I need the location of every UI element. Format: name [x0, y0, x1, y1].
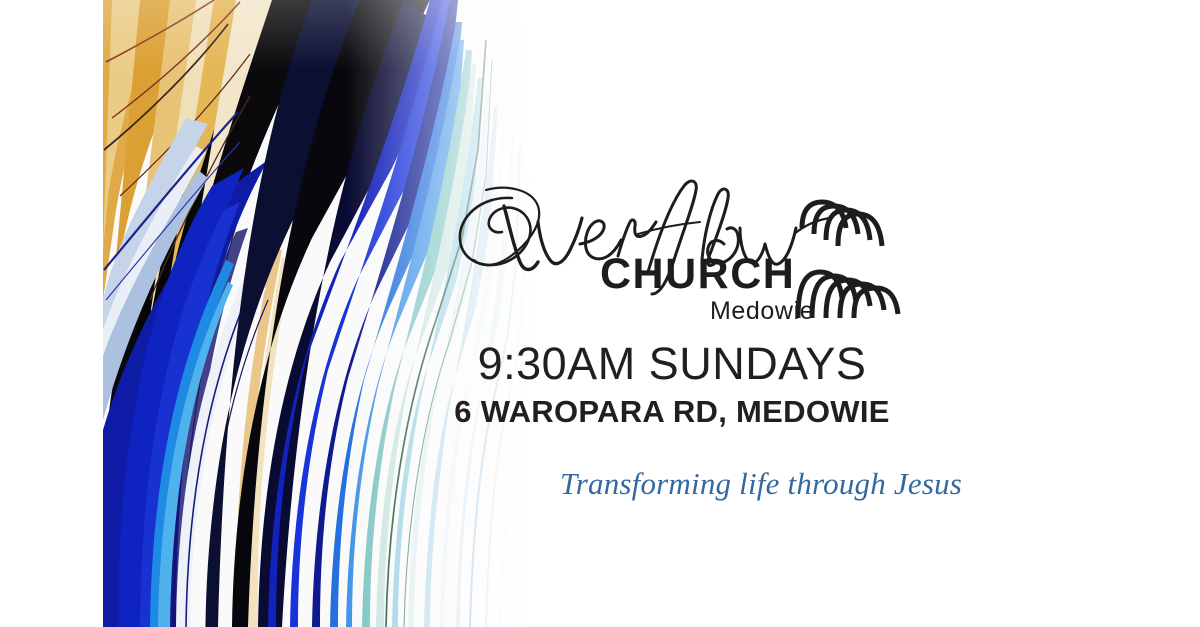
cascading-waterfall-icon — [798, 202, 898, 318]
service-address: 6 WAROPARA RD, MEDOWIE — [322, 396, 1022, 429]
tagline-block: Transforming life through Jesus — [560, 448, 1030, 514]
logo-church-word: CHURCH — [600, 250, 795, 298]
service-time: 9:30AM SUNDAYS — [322, 340, 1022, 387]
tagline-text: Transforming life through Jesus — [560, 466, 962, 501]
tagline-script-text: Transforming life through Jesus — [560, 448, 1030, 514]
poster-canvas: CHURCH Medowie 9:30AM SUNDAYS 6 WAROPARA… — [0, 0, 1200, 627]
logo-block: CHURCH Medowie — [452, 176, 912, 336]
overflow-church-medowie-logo: CHURCH Medowie — [452, 176, 912, 336]
